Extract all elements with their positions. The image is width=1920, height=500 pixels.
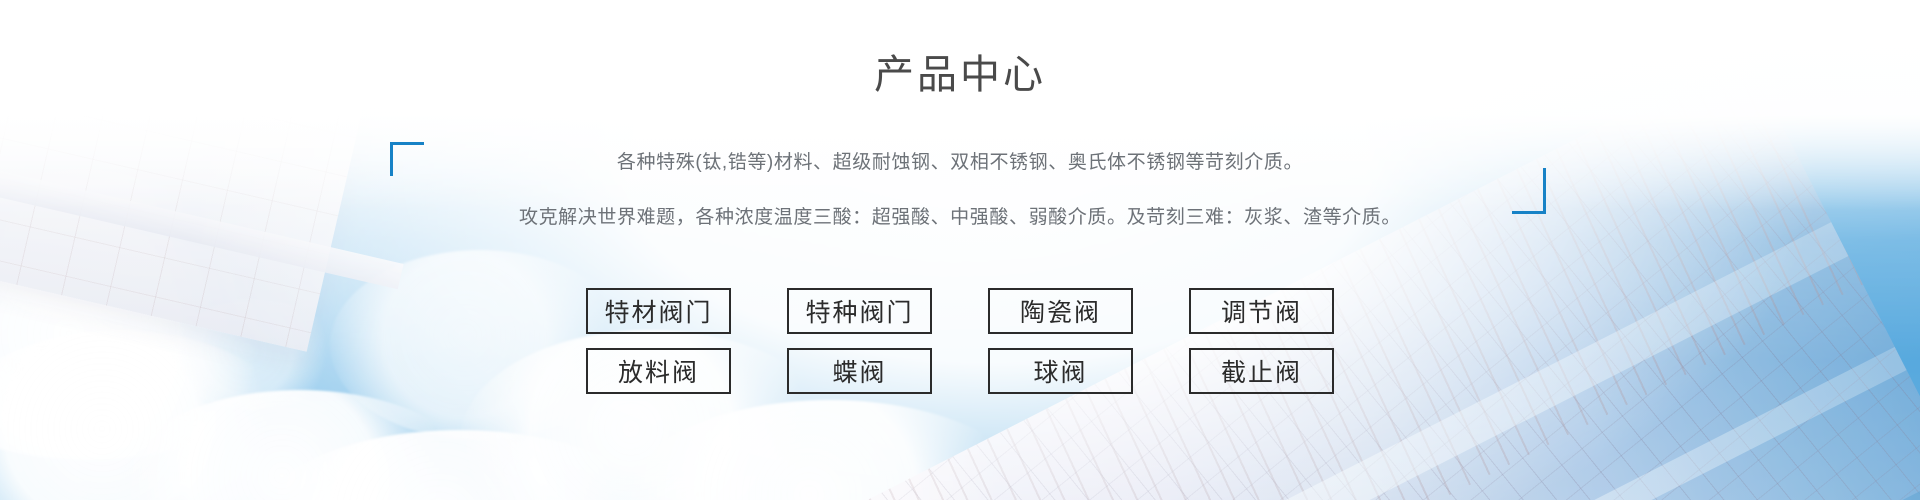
banner-content: 产品中心 各种特殊(钛,锆等)材料、超级耐蚀钢、双相不锈钢、奥氏体不锈钢等苛刻介… — [0, 0, 1920, 500]
description-line-1: 各种特殊(钛,锆等)材料、超级耐蚀钢、双相不锈钢、奥氏体不锈钢等苛刻介质。 — [0, 148, 1920, 177]
category-button-die-fa[interactable]: 蝶阀 — [787, 348, 932, 394]
product-center-banner: 产品中心 各种特殊(钛,锆等)材料、超级耐蚀钢、双相不锈钢、奥氏体不锈钢等苛刻介… — [0, 0, 1920, 500]
description-block: 各种特殊(钛,锆等)材料、超级耐蚀钢、双相不锈钢、奥氏体不锈钢等苛刻介质。 攻克… — [0, 148, 1920, 233]
page-title: 产品中心 — [0, 50, 1920, 100]
category-row-1: 特材阀门 特种阀门 陶瓷阀 调节阀 — [0, 288, 1920, 334]
category-button-fangliao-fa[interactable]: 放料阀 — [586, 348, 731, 394]
description-line-2: 攻克解决世界难题，各种浓度温度三酸：超强酸、中强酸、弱酸介质。及苛刻三难：灰浆、… — [0, 203, 1920, 232]
category-button-taoci-fa[interactable]: 陶瓷阀 — [988, 288, 1133, 334]
category-button-jiezhi-fa[interactable]: 截止阀 — [1189, 348, 1334, 394]
category-button-tiaojie-fa[interactable]: 调节阀 — [1189, 288, 1334, 334]
category-button-temai-famen[interactable]: 特材阀门 — [586, 288, 731, 334]
category-button-grid: 特材阀门 特种阀门 陶瓷阀 调节阀 放料阀 蝶阀 球阀 截止阀 — [0, 288, 1920, 394]
category-button-qiu-fa[interactable]: 球阀 — [988, 348, 1133, 394]
category-row-2: 放料阀 蝶阀 球阀 截止阀 — [0, 348, 1920, 394]
category-button-tezhong-famen[interactable]: 特种阀门 — [787, 288, 932, 334]
